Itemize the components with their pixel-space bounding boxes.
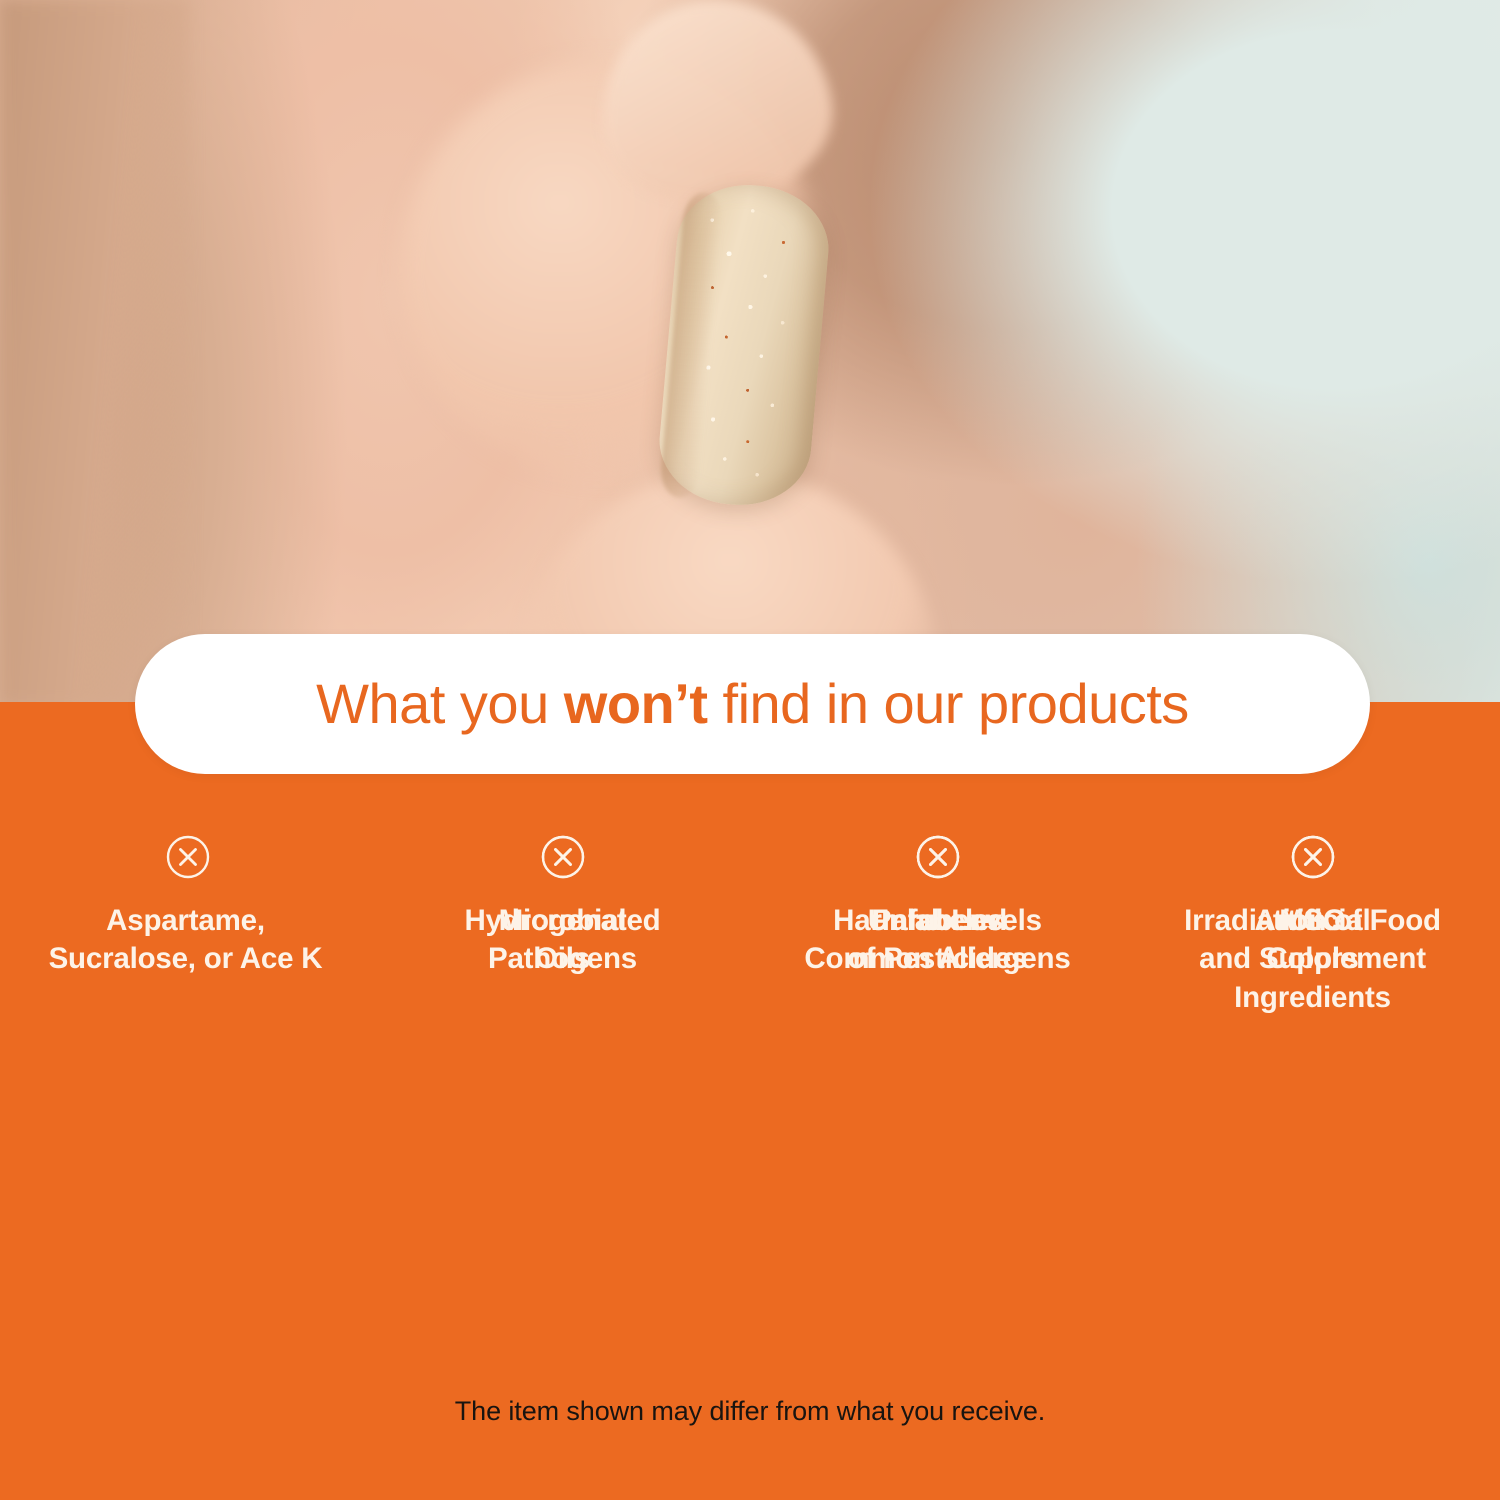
- title-emphasis: won’t: [564, 672, 708, 735]
- exclusion-label: Harmful Levels of Pesticides: [833, 902, 1042, 979]
- product-infographic: What you won’t find in our products Aspa…: [0, 0, 1500, 1500]
- circle-x-icon: [165, 834, 211, 880]
- banner-pill: What you won’t find in our products: [135, 634, 1370, 774]
- photo-arm-region: [0, 0, 190, 706]
- exclusion-label-line: of Pesticides: [833, 940, 1042, 978]
- exclusion-label: Hydrogenated Oils: [465, 902, 661, 979]
- exclusion-label-line: Harmful Levels: [833, 902, 1042, 940]
- title-suffix: find in our products: [707, 672, 1188, 735]
- exclusion-label: Aspartame, Sucralose, or Ace K: [49, 902, 323, 979]
- exclusion-label: Irradiation of Food and Supplement Ingre…: [1184, 902, 1441, 1017]
- exclusions-grid: Aspartame, Sucralose, or Ace K Microbial…: [0, 812, 1500, 997]
- exclusion-item-pesticides: Harmful Levels of Pesticides: [750, 812, 1125, 1017]
- page-title: What you won’t find in our products: [316, 676, 1189, 732]
- exclusion-label-line: Sucralose, or Ace K: [49, 940, 323, 978]
- exclusion-label-line: Ingredients: [1184, 979, 1441, 1017]
- circle-x-icon: [1290, 834, 1336, 880]
- exclusion-label-line: Aspartame,: [49, 902, 323, 940]
- exclusion-label-line: Oils: [465, 940, 661, 978]
- exclusion-item-hydrogenated-oils: Hydrogenated Oils: [375, 812, 750, 987]
- circle-x-icon: [915, 834, 961, 880]
- exclusion-label-line: Hydrogenated: [465, 902, 661, 940]
- disclaimer-text: The item shown may differ from what you …: [0, 1396, 1500, 1427]
- exclusion-label-line: and Supplement: [1184, 940, 1441, 978]
- exclusions-row: Harmful Levels of Pesticides Irradiation…: [750, 812, 1500, 997]
- exclusion-item-aspartame: Aspartame, Sucralose, or Ace K: [0, 812, 375, 987]
- hero-photo: [0, 0, 1500, 706]
- exclusion-item-irradiation: Irradiation of Food and Supplement Ingre…: [1125, 812, 1500, 1017]
- title-prefix: What you: [316, 672, 564, 735]
- exclusion-label-line: Irradiation of Food: [1184, 902, 1441, 940]
- circle-x-icon: [540, 834, 586, 880]
